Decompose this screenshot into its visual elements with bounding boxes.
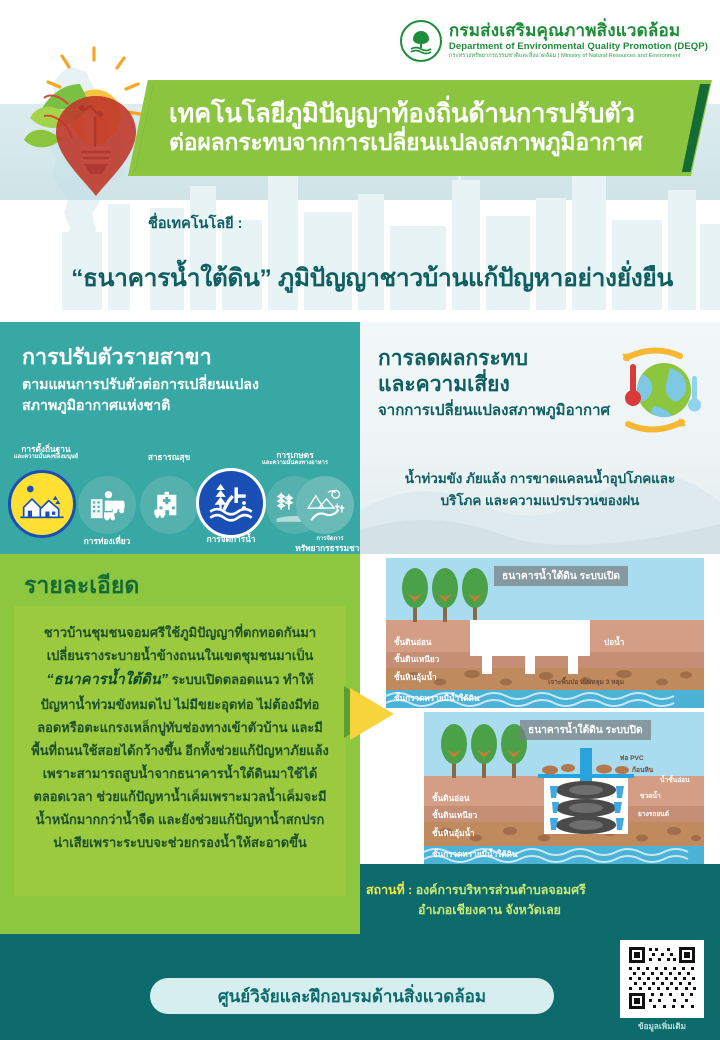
details-text-part-1: ชาวบ้านชุมชนจอมศรีใช้ภูมิปัญญาที่ตกทอดกั… [44,625,316,663]
open-layer-4-label: ชั้นกรวดทรายมีน้ำใต้ดิน [394,692,479,705]
open-pond-label: บ่อน้ำ [604,636,624,649]
technology-name: “ธนาคารน้ำใต้ดิน” ภูมิปัญญาชาวบ้านแก้ปัญ… [52,258,692,297]
title-line-1: เทคโนโลยีภูมิปัญญาท้องถิ่นด้านการปรับตัว [169,99,684,129]
title-banner: เทคโนโลยีภูมิปัญญาท้องถิ่นด้านการปรับตัว… [135,84,710,172]
details-heading: รายละเอียด [24,568,139,604]
closed-layer-3-label: ชั้นหินอุ้มน้ำ [432,827,475,840]
sector-item-water[interactable]: การจัดการน้ำ [196,468,266,538]
poster-root: กรมส่งเสริมคุณภาพสิ่งแวดล้อม Department … [0,0,720,1040]
open-note-label: เจาะพื้นบ่อ เป็นหลุม 3 หลุม [548,676,624,687]
mitigation-body-2: บริโภค และความแปรปรวนของฝน [378,490,702,512]
location-line-2: อำเภอเชียงคาน จังหวัดเลย [418,903,561,917]
globe-thermometer-icon [602,342,706,438]
triangle-right-arrow-icon [350,688,396,740]
water-tap-river-icon [205,477,257,529]
deqp-logo: กรมส่งเสริมคุณภาพสิ่งแวดล้อม Department … [400,20,708,62]
closed-layer-2-label: ชั้นดินเหนียว [432,809,477,822]
title-line-2: ต่อผลกระทบจากการเปลี่ยนแปลงสภาพภูมิอากาศ [169,129,684,156]
lightbulb-leaf-map-pin-icon [12,42,152,212]
adaptation-sub-line-1: ตามแผนการปรับตัวต่อการเปลี่ยนแปลง [22,375,342,396]
location-line-1: องค์การบริหารส่วนตำบลจอมศรี [416,883,586,897]
city-bus-tourism-icon [85,483,129,527]
diagram-closed-system: ธนาคารน้ำใต้ดิน ระบบปิด ท่อ PVC ก้อนหิน … [424,712,704,864]
sector-item-tourism[interactable]: การท่องเที่ยว [78,476,136,534]
open-layer-2-label: ชั้นดินเหนียว [394,653,439,666]
footer-center-pill: ศูนย์วิจัยและฝึกอบรมด้านสิ่งแวดล้อม [150,978,554,1014]
details-paragraph: ชาวบ้านชุมชนจอมศรีใช้ภูมิปัญญาที่ตกทอดกั… [14,606,346,855]
diagram-closed-title: ธนาคารน้ำใต้ดิน ระบบปิด [520,720,651,740]
closed-topsoil-label: น้ำชั้นอ่อน [660,774,690,785]
sector-item-health[interactable]: สาธารณสุข [140,476,198,534]
details-highlight-term: “ธนาคารน้ำใต้ดิน” [46,672,168,688]
deqp-ministry-line: กระทรวงทรัพยากรธรรมชาติและสิ่งแวดล้อม | … [449,53,708,60]
deqp-seal-icon [400,20,442,62]
mountain-forest-icon [302,482,348,528]
details-card: ชาวบ้านชุมชนจอมศรีใช้ภูมิปัญญาที่ตกทอดกั… [14,606,346,896]
closed-tire-label: ยางรถยนต์ [638,808,669,819]
closed-layer-4-label: ชั้นกรวดทรายมีน้ำใต้ดิน [432,848,517,861]
mitigation-panel: การลดผลกระทบ และความเสี่ยง จากการเปลี่ยน… [360,322,720,554]
adaptation-heading: การปรับตัวรายสาขา [22,344,342,371]
location-block: สถานที่ : องค์การบริหารส่วนตำบลจอมศรี อำ… [366,880,656,921]
village-houses-icon [17,479,67,529]
closed-stone-label: ก้อนหิน [632,764,653,775]
sector-icon-row: การตั้งถิ่นฐาน และความมั่นคงของมนุษย์ [0,444,360,554]
deqp-title-en: Department of Environmental Quality Prom… [449,41,708,53]
open-layer-1-label: ชั้นดินอ่อน [394,636,432,649]
hospital-ambulance-icon [147,483,191,527]
closed-layer-1-label: ชั้นดินอ่อน [432,792,470,805]
sector-item-natural-resources[interactable]: การจัดการ ทรัพยากรธรรมชาติ [296,476,354,534]
closed-pipe-label: ท่อ PVC [620,752,644,763]
footer-center-name: ศูนย์วิจัยและฝึกอบรมด้านสิ่งแวดล้อม [218,983,486,1010]
sector-label-health: สาธารณสุข [109,452,229,462]
technology-label: ชื่อเทคโนโลยี : [148,212,243,235]
qr-code-icon[interactable] [620,940,704,1018]
adaptation-sub-line-2: สภาพภูมิอากาศแห่งชาติ [22,396,342,417]
closed-bottle-label: ขวดน้ำ [640,790,661,801]
diagram-open-system: ธนาคารน้ำใต้ดิน ระบบเปิด ชั้นดินอ่อน ชั้… [386,558,704,708]
deqp-title-th: กรมส่งเสริมคุณภาพสิ่งแวดล้อม [449,21,708,41]
location-label: สถานที่ : [366,883,412,897]
sector-label-tourism: การท่องเที่ยว [47,536,167,546]
diagram-open-title: ธนาคารน้ำใต้ดิน ระบบเปิด [494,566,628,586]
details-text-part-2: ระบบเปิดตลอดแนว ทำให้ปัญหาน้ำท่วมขังหมดไ… [31,672,329,850]
details-panel: รายละเอียด ชาวบ้านชุมชนจอมศรีใช้ภูมิปัญญ… [0,554,360,934]
mitigation-body-1: น้ำท่วมขัง ภัยแล้ง การขาดแคลนน้ำอุปโภคแล… [378,468,702,490]
sector-label-agriculture: การเกษตร และความมั่นคงทางอาหาร [235,450,355,467]
qr-caption: ข้อมูลเพิ่มเติม [618,1020,706,1033]
sector-label-settlement: การตั้งถิ่นฐาน และความมั่นคงของมนุษย์ [0,444,106,461]
open-layer-3-label: ชั้นหินอุ้มน้ำ [394,671,437,684]
sector-item-settlement[interactable]: การตั้งถิ่นฐาน และความมั่นคงของมนุษย์ [8,470,76,538]
